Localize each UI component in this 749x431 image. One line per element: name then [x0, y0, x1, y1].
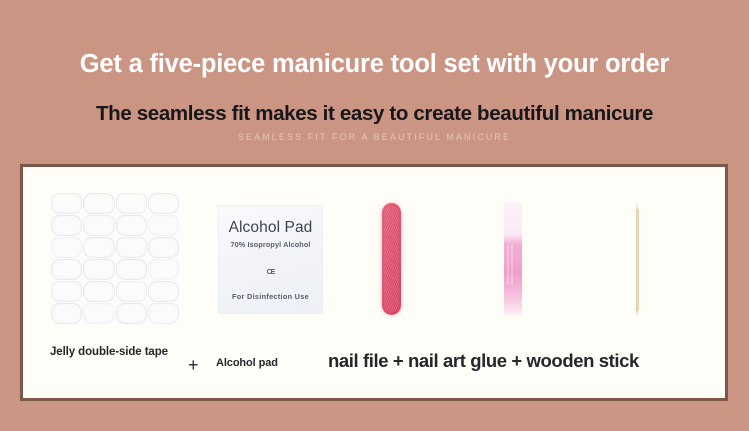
alcohol-pad-package-subtitle: 70% Isopropyl Alcohol: [230, 240, 310, 249]
jelly-tab: [51, 303, 82, 324]
alcohol-pad-image: Alcohol Pad 70% Isopropyl Alcohol CE For…: [218, 205, 323, 314]
jelly-tab: [116, 259, 147, 280]
caption-jelly-tape: Jelly double-side tape: [50, 345, 170, 361]
alcohol-pad-package-title: Alcohol Pad: [229, 219, 313, 237]
jelly-tab: [51, 193, 82, 214]
subheadline: The seamless fit makes it easy to create…: [0, 103, 749, 126]
wooden-stick-image: [635, 203, 640, 316]
alcohol-pad-package-use: For Disinfection Use: [232, 292, 309, 301]
page-title: Get a five-piece manicure tool set with …: [0, 50, 749, 78]
jelly-tab: [116, 303, 147, 324]
jelly-tab: [83, 303, 114, 324]
nail-art-glue-image: [504, 203, 522, 315]
wooden-stick-tip-bottom: [636, 309, 638, 316]
jelly-tab: [116, 281, 147, 302]
caption-tools-group: nail file + nail art glue + wooden stick: [328, 350, 639, 372]
jelly-tab: [116, 237, 147, 258]
jelly-tab: [83, 215, 114, 236]
jelly-tab: [51, 281, 82, 302]
jelly-tab: [51, 215, 82, 236]
plus-separator-icon: +: [188, 356, 199, 374]
product-set-card: Alcohol Pad 70% Isopropyl Alcohol CE For…: [20, 164, 728, 401]
jelly-tab: [83, 281, 114, 302]
jelly-tab: [83, 259, 114, 280]
jelly-tab: [83, 193, 114, 214]
nail-file-image: [382, 203, 401, 315]
jelly-tab: [148, 215, 179, 236]
caption-alcohol-pad: Alcohol pad: [216, 357, 278, 369]
ce-mark-icon: CE: [267, 269, 275, 276]
jelly-tape-image: [51, 193, 179, 324]
jelly-tab: [116, 193, 147, 214]
jelly-tab: [83, 237, 114, 258]
promo-banner: Get a five-piece manicure tool set with …: [0, 0, 749, 431]
jelly-tab: [148, 303, 179, 324]
jelly-tab: [116, 215, 147, 236]
kicker-text: SEAMLESS FIT FOR A BEAUTIFUL MANICURE: [0, 132, 749, 142]
jelly-tab: [148, 281, 179, 302]
jelly-tab: [148, 259, 179, 280]
jelly-tab: [148, 193, 179, 214]
jelly-tab: [148, 237, 179, 258]
jelly-tab: [51, 259, 82, 280]
wooden-stick-body: [636, 209, 639, 310]
jelly-tab: [51, 237, 82, 258]
